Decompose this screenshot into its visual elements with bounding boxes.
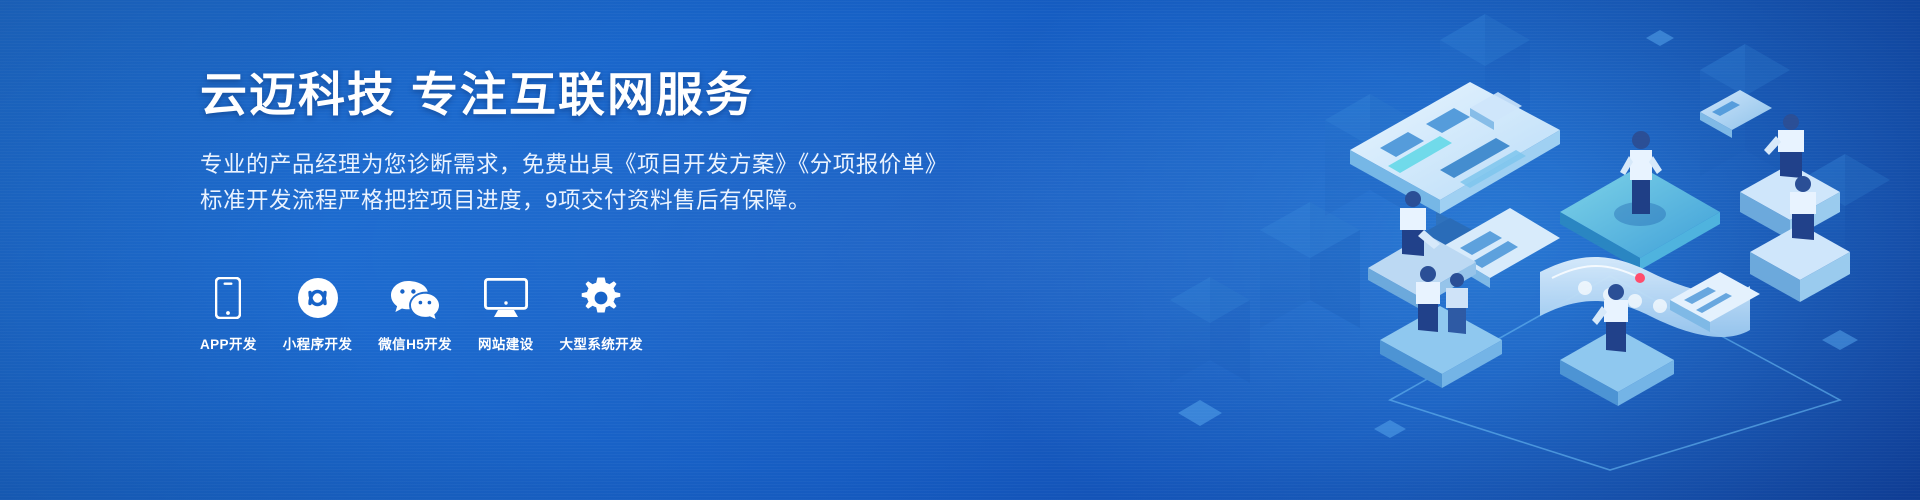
- service-item-wechat-h5[interactable]: 微信H5开发: [378, 275, 452, 353]
- service-item-large-system[interactable]: 大型系统开发: [560, 275, 643, 353]
- gear-icon: [580, 275, 622, 321]
- service-label: APP开发: [200, 333, 257, 353]
- banner-content: 云迈科技 专注互联网服务 专业的产品经理为您诊断需求，免费出具《项目开发方案》《…: [200, 66, 960, 220]
- service-label: 大型系统开发: [560, 333, 643, 353]
- hero-banner: 云迈科技 专注互联网服务 专业的产品经理为您诊断需求，免费出具《项目开发方案》《…: [0, 0, 1920, 500]
- service-item-miniprogram[interactable]: 小程序开发: [283, 275, 353, 353]
- service-label: 网站建设: [478, 333, 534, 353]
- wechat-icon: [390, 275, 440, 321]
- isometric-tech-team-illustration: [1140, 0, 1920, 500]
- page-title: 云迈科技 专注互联网服务: [200, 66, 960, 125]
- banner-subtitle: 专业的产品经理为您诊断需求，免费出具《项目开发方案》《分项报价单》 标准开发流程…: [200, 147, 960, 220]
- mobile-phone-icon: [215, 275, 241, 321]
- mini-program-icon: [297, 275, 339, 321]
- service-item-website[interactable]: 网站建设: [478, 275, 534, 353]
- service-label: 微信H5开发: [378, 333, 452, 353]
- service-list: APP开发 小程序开发: [200, 275, 643, 353]
- subtitle-line-1: 专业的产品经理为您诊断需求，免费出具《项目开发方案》《分项报价单》: [200, 147, 960, 183]
- service-item-app[interactable]: APP开发: [200, 275, 257, 353]
- monitor-icon: [484, 275, 528, 321]
- service-label: 小程序开发: [283, 333, 353, 353]
- subtitle-line-2: 标准开发流程严格把控项目进度，9项交付资料售后有保障。: [200, 183, 960, 219]
